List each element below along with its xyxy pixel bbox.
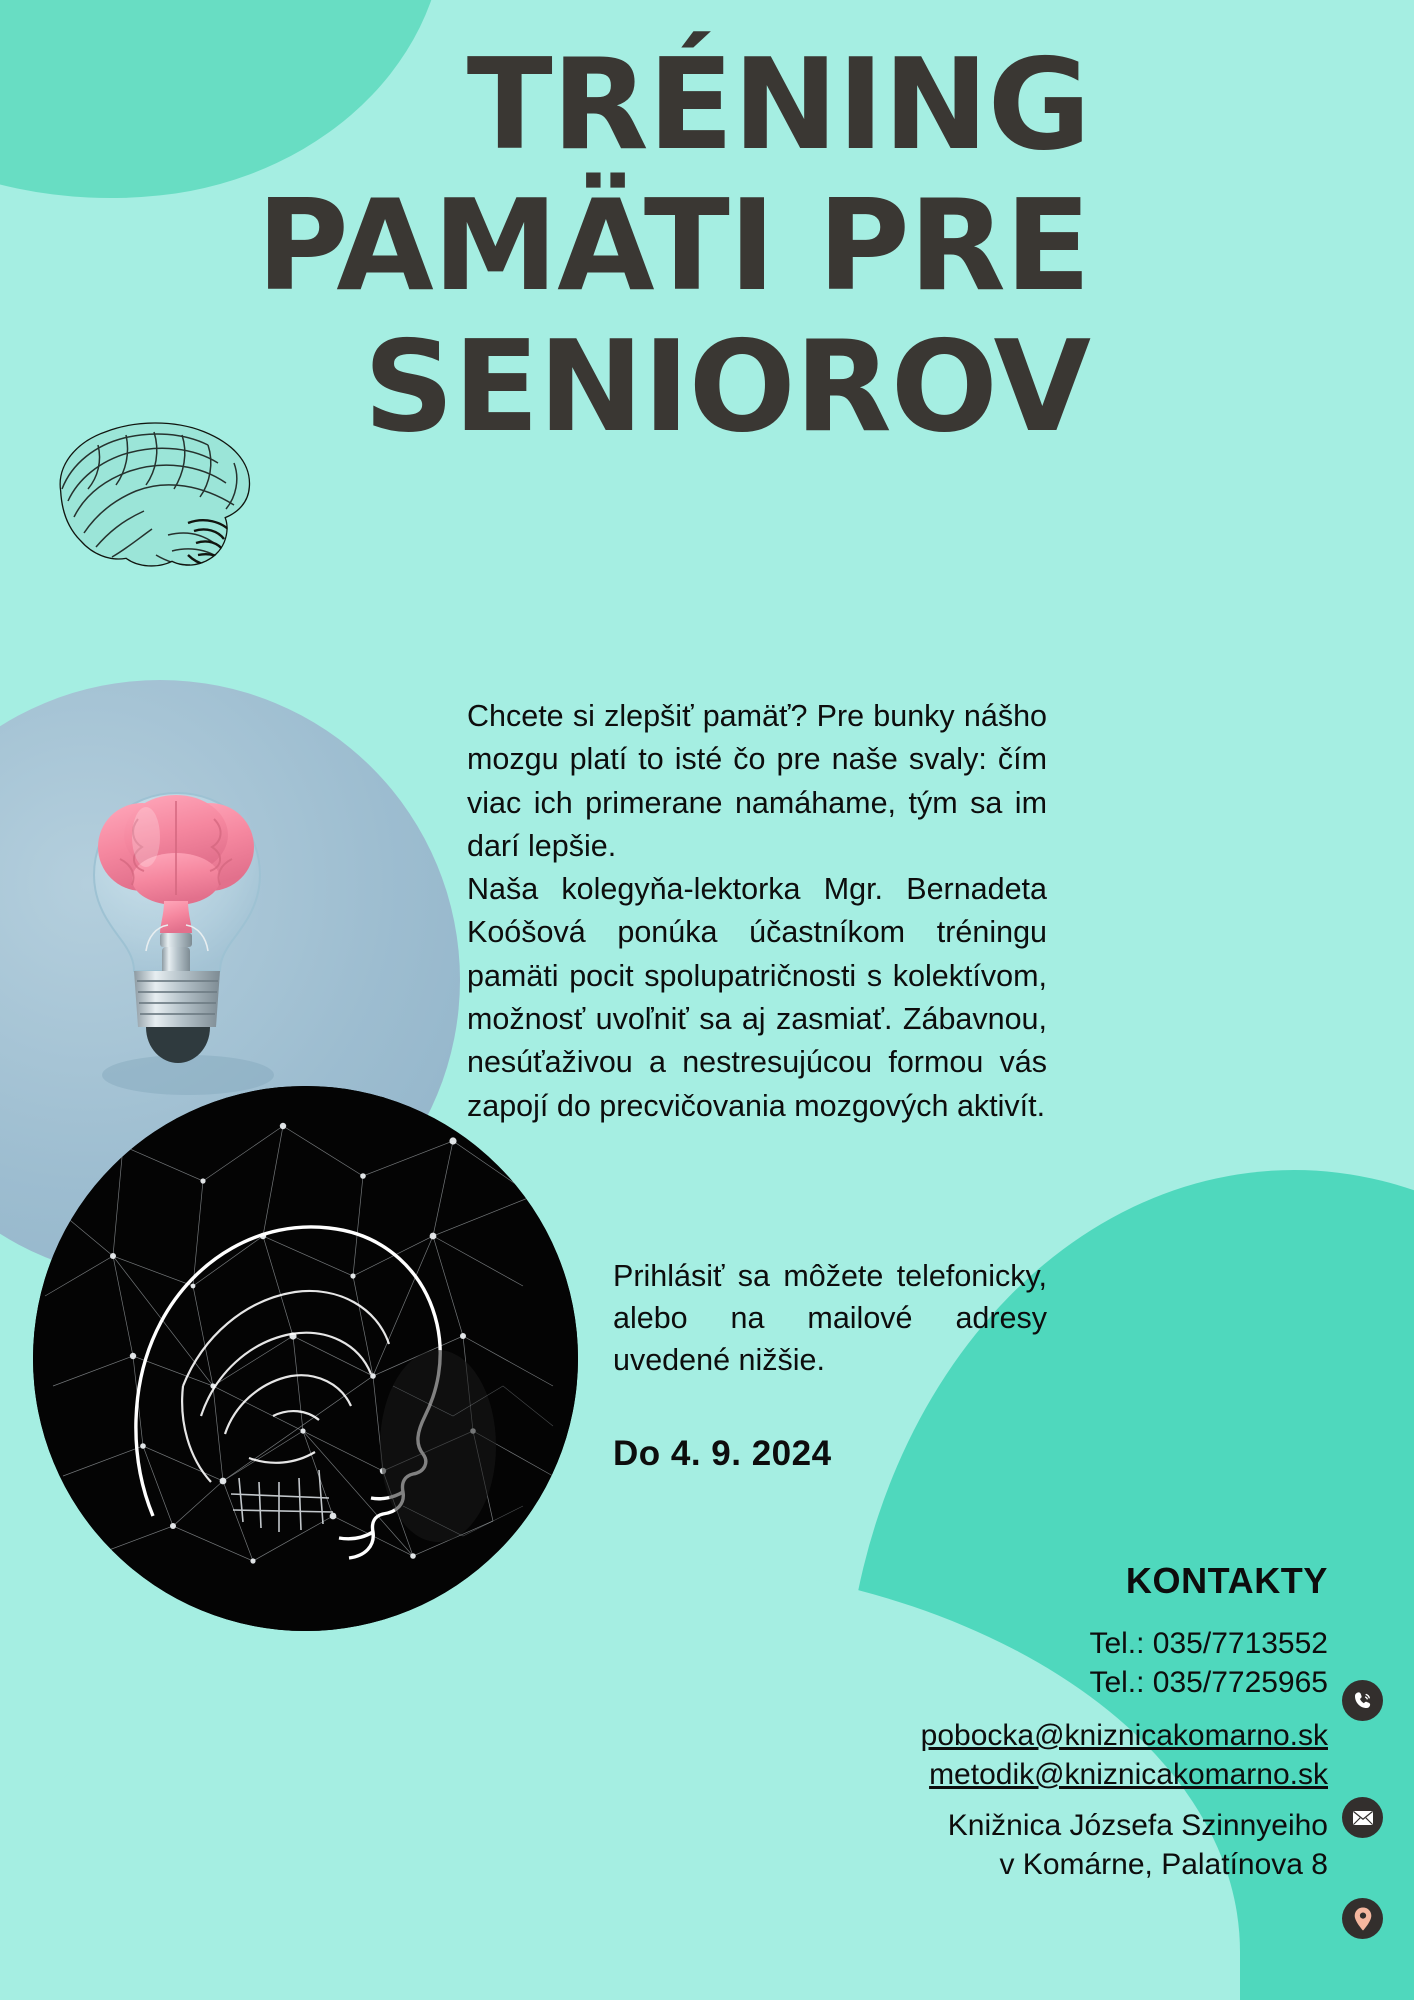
body-paragraph-1: Chcete si zlepšiť pamäť? Pre bunky nášho…	[467, 695, 1047, 868]
contacts-block: Tel.: 035/7713552 Tel.: 035/7725965 pobo…	[768, 1624, 1328, 1884]
network-head-photo	[33, 1086, 578, 1631]
body-paragraph-2: Naša kolegyňa-lektorka Mgr. Bernadeta Ko…	[467, 868, 1047, 1128]
contact-phone-2[interactable]: Tel.: 035/7725965	[768, 1663, 1328, 1702]
signup-note: Prihlásiť sa môžete telefonicky, alebo n…	[613, 1255, 1047, 1381]
deadline-date: Do 4. 9. 2024	[613, 1434, 832, 1474]
title-line-3: SENIOROV	[150, 316, 1090, 457]
contacts-heading: KONTAKTY	[1126, 1560, 1328, 1602]
poster-root: TRÉNING PAMÄTI PRE SENIOROV Chcete si zl…	[0, 0, 1414, 2000]
mail-icon	[1342, 1797, 1383, 1838]
page-title: TRÉNING PAMÄTI PRE SENIOROV	[150, 34, 1090, 457]
contact-email-2[interactable]: metodik@kniznicakomarno.sk	[768, 1755, 1328, 1794]
body-copy: Chcete si zlepšiť pamäť? Pre bunky nášho…	[467, 695, 1047, 1128]
contact-address-line-2: v Komárne, Palatínova 8	[768, 1845, 1328, 1884]
title-line-1: TRÉNING	[150, 34, 1090, 175]
phone-icon	[1342, 1680, 1383, 1721]
title-line-2: PAMÄTI PRE	[150, 175, 1090, 316]
signup-text: Prihlásiť sa môžete telefonicky, alebo n…	[613, 1255, 1047, 1381]
contact-address-line-1: Knižnica Józsefa Szinnyeiho	[768, 1806, 1328, 1845]
contact-email-1[interactable]: pobocka@kniznicakomarno.sk	[768, 1716, 1328, 1755]
contact-phone-1[interactable]: Tel.: 035/7713552	[768, 1624, 1328, 1663]
lightbulb-brain-photo	[60, 775, 295, 1115]
map-pin-icon	[1342, 1898, 1383, 1939]
